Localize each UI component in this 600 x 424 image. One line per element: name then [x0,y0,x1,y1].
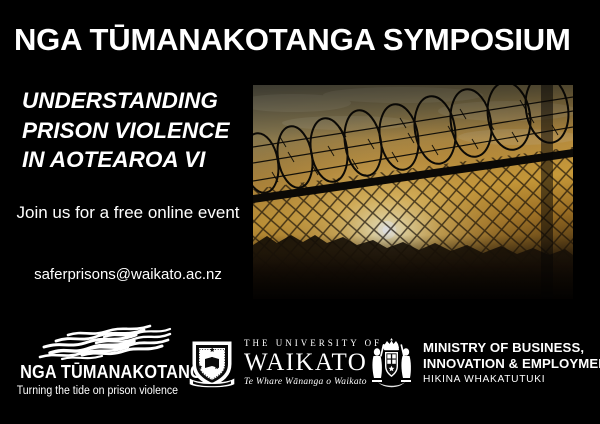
university-of-waikato-logo: THE UNIVERSITY OF WAIKATO Te Whare Wānan… [188,338,382,390]
contact-email: saferprisons@waikato.ac.nz [8,266,248,283]
headline-block: UNDERSTANDING PRISON VIOLENCE IN AOTEARO… [22,86,247,175]
sponsor-logo-bar: NGA TŪMANAKOTANGA Turning the tide on pr… [0,316,600,416]
waikato-line-1: THE UNIVERSITY OF [244,339,382,349]
headline-line-1: UNDERSTANDING [22,86,247,116]
mbie-wordmark: MINISTRY OF BUSINESS, INNOVATION & EMPLO… [423,340,600,387]
invitation-text: Join us for a free online event [8,200,248,226]
mbie-line-1: MINISTRY OF BUSINESS, [423,340,600,356]
mbie-line-2: INNOVATION & EMPLOYMENT [423,356,600,372]
symposium-poster: NGA TŪMANAKOTANGA SYMPOSIUM UNDERSTANDIN… [0,0,600,424]
fence-sunset-illustration [253,85,573,299]
mbie-line-3: HIKINA WHAKATUTUKI [423,372,600,387]
waikato-line-2: WAIKATO [244,349,382,377]
nga-tumanakotanga-name: NGA TŪMANAKOTANGA [20,362,168,383]
page-title: NGA TŪMANAKOTANGA SYMPOSIUM [14,24,589,55]
waikato-crest-icon [188,338,236,390]
waikato-line-3: Te Whare Wānanga o Waikato [244,377,382,388]
nga-tumanakotanga-tagline: Turning the tide on prison violence [17,384,172,398]
headline-line-2: PRISON VIOLENCE [22,116,247,146]
nz-coat-of-arms-icon [368,336,415,391]
mbie-logo: MINISTRY OF BUSINESS, INNOVATION & EMPLO… [368,336,600,391]
tide-waves-mark [10,322,178,362]
waikato-wordmark: THE UNIVERSITY OF WAIKATO Te Whare Wānan… [244,339,382,388]
nga-tumanakotanga-logo: NGA TŪMANAKOTANGA Turning the tide on pr… [10,322,178,398]
prison-fence-sunset-photo [253,85,573,299]
headline-line-3: IN AOTEAROA VI [22,145,247,175]
